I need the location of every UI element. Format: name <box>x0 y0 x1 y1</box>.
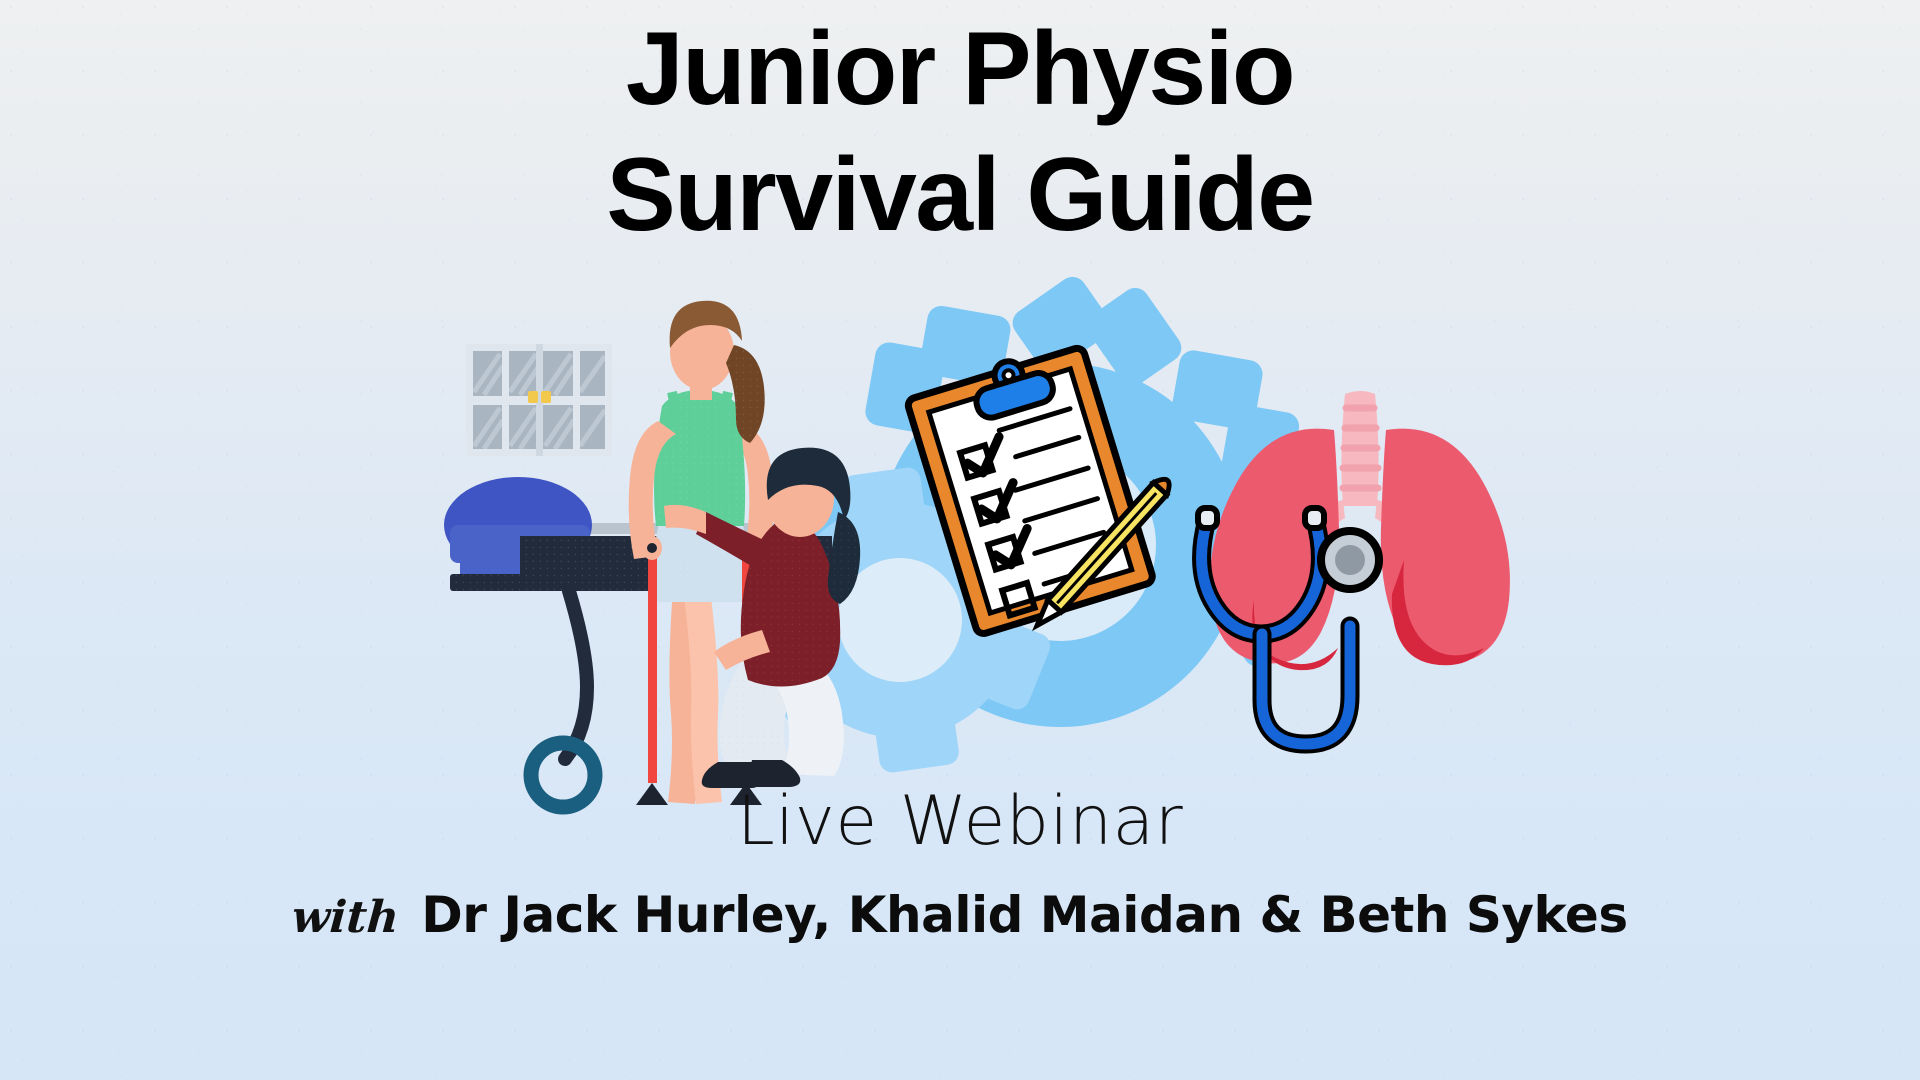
event-type-label: Live Webinar <box>0 785 1920 859</box>
presenters-line: withDr Jack Hurley, Khalid Maidan & Beth… <box>0 886 1920 944</box>
window-shape <box>466 344 612 456</box>
title-line-2: Survival Guide <box>0 132 1920 258</box>
webinar-poster: Junior Physio Survival Guide Live Webina… <box>0 0 1920 1080</box>
title-line-1: Junior Physio <box>0 6 1920 132</box>
presenter-names: Dr Jack Hurley, Khalid Maidan & Beth Syk… <box>421 886 1627 944</box>
with-word: with <box>291 892 401 943</box>
page-title: Junior Physio Survival Guide <box>0 6 1920 258</box>
